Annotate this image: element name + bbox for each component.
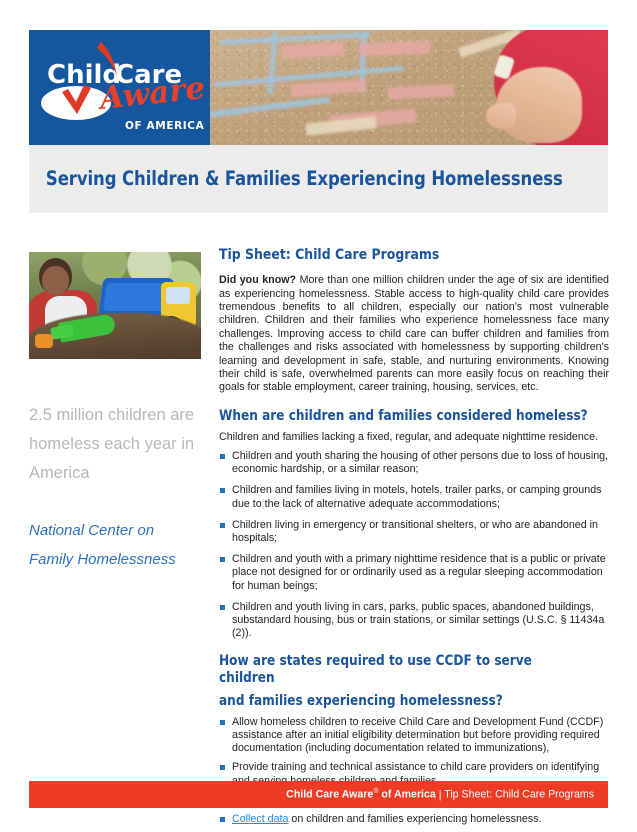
child-care-aware-logo: Child Care Aware ® OF AMERICA (29, 30, 210, 145)
footer-org-rest: of America (378, 789, 435, 801)
section2-heading-line2: and families experiencing homelessness? (219, 693, 590, 710)
toy-truck-bed-inner (103, 283, 168, 311)
toy-truck-window (166, 287, 190, 304)
list-item: Children and youth with a primary nightt… (219, 553, 609, 593)
section1-lead: Children and families lacking a fixed, r… (219, 431, 609, 444)
footer-org-name: Child Care Aware (286, 789, 373, 801)
tip-sheet-heading: Tip Sheet: Child Care Programs (219, 246, 590, 263)
sidebar-photo-child-with-truck (29, 252, 201, 359)
footer-subtitle: Tip Sheet: Child Care Programs (444, 789, 594, 801)
header-banner: Child Care Aware ® OF AMERICA (29, 30, 608, 145)
last-bullet-rest: on children and families experiencing ho… (288, 813, 541, 825)
list-item-with-link: Collect data on children and families ex… (219, 813, 609, 826)
section2-heading-line1: How are states required to use CCDF to s… (219, 653, 590, 687)
list-item: Allow homeless children to receive Child… (219, 716, 609, 756)
list-item: Children and youth sharing the housing o… (219, 450, 609, 476)
sidebar-column: 2.5 million children are homeless each y… (29, 252, 201, 574)
document-title-band: Serving Children & Families Experiencing… (29, 145, 608, 213)
header-photo-chalk-hopscotch (210, 30, 608, 145)
list-item: Children and families living in motels, … (219, 484, 609, 510)
document-page: Child Care Aware ® OF AMERICA (0, 0, 637, 828)
main-content-column: Tip Sheet: Child Care Programs Did you k… (219, 246, 609, 832)
list-item: Children and youth living in cars, parks… (219, 601, 609, 641)
page-title: Serving Children & Families Experiencing… (29, 168, 563, 189)
logo-block: Child Care Aware ® OF AMERICA (29, 30, 210, 145)
svg-text:®: ® (186, 85, 194, 94)
footer-bar: Child Care Aware® of America | Tip Sheet… (29, 781, 608, 808)
statistic-quote: 2.5 million children are homeless each y… (29, 401, 201, 488)
section1-heading: When are children and families considere… (219, 408, 590, 425)
intro-paragraph: Did you know? More than one million chil… (219, 274, 609, 395)
list-item: Children living in emergency or transiti… (219, 519, 609, 545)
orange-toy (35, 334, 53, 348)
child-thumb (486, 103, 516, 129)
svg-text:OF AMERICA: OF AMERICA (125, 120, 205, 132)
child-face (42, 266, 69, 295)
footer-separator: | (436, 789, 444, 801)
footer-text: Child Care Aware® of America | Tip Sheet… (286, 788, 608, 801)
intro-lead-in: Did you know? (219, 274, 296, 286)
intro-body-text: More than one million children under the… (219, 274, 609, 393)
section1-bullet-list: Children and youth sharing the housing o… (219, 450, 609, 640)
statistic-source: National Center on Family Homelessness (29, 516, 201, 574)
collect-data-link[interactable]: Collect data (232, 813, 288, 825)
section2-bullet-list: Allow homeless children to receive Child… (219, 716, 609, 826)
